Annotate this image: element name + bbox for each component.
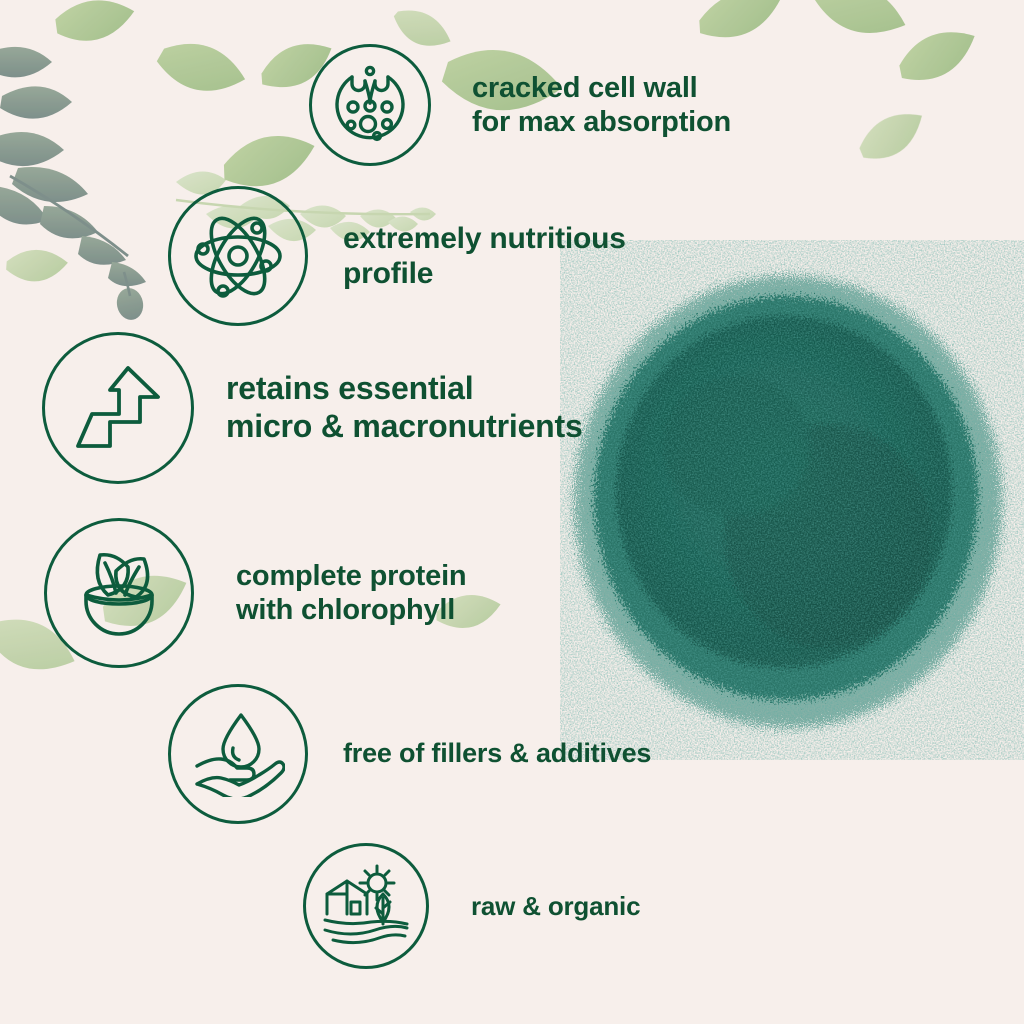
feature-label: complete protein with chlorophyll (236, 559, 466, 627)
feature-label: free of fillers & additives (343, 738, 651, 770)
feature-row: retains essential micro & macronutrients (42, 332, 583, 484)
feature-row: complete protein with chlorophyll (44, 518, 466, 668)
feature-row: free of fillers & additives (168, 684, 651, 824)
farm-sun-field-icon (303, 843, 429, 969)
bowl-with-leaves-icon (44, 518, 194, 668)
feature-label: extremely nutritious profile (343, 221, 626, 292)
feature-label: retains essential micro & macronutrients (226, 370, 583, 446)
ascending-zigzag-arrow-icon (42, 332, 194, 484)
feature-row: cracked cell wall for max absorption (309, 44, 731, 166)
water-drop-on-hand-icon (168, 684, 308, 824)
product-feature-infographic: cracked cell wall for max absorption ext… (0, 0, 1024, 1024)
feature-label: raw & organic (471, 891, 640, 922)
cracked-cell-wall-icon (309, 44, 431, 166)
spirulina-powder-pile (560, 240, 1024, 760)
atom-icon (168, 186, 308, 326)
feature-row: extremely nutritious profile (168, 186, 626, 326)
feature-row: raw & organic (303, 843, 640, 969)
feature-label: cracked cell wall for max absorption (472, 71, 731, 139)
